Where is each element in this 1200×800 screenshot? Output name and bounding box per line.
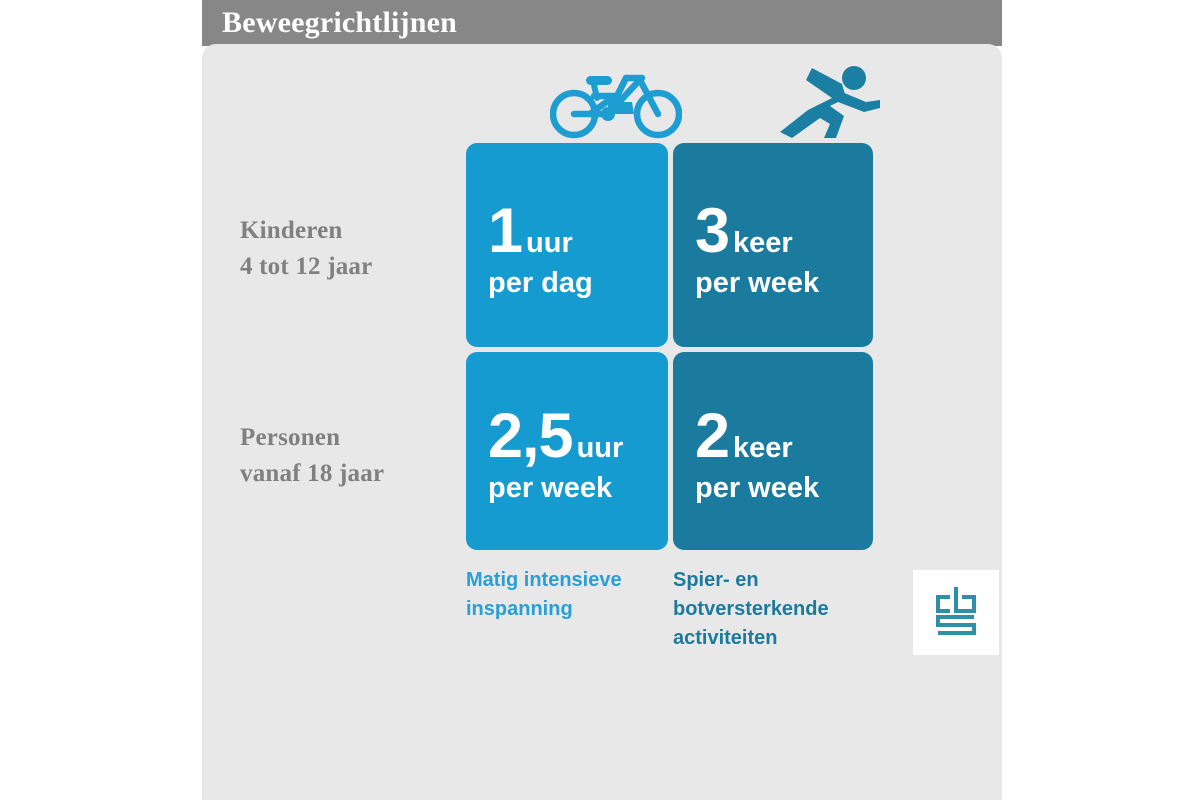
- value-unit: keer: [733, 228, 793, 258]
- value-line-primary: 1 uur: [488, 199, 668, 263]
- value-box-adults-strength: 2 keer per week: [673, 352, 873, 550]
- caption-strength-line1: Spier- en: [673, 566, 873, 595]
- caption-moderate-line1: Matig intensieve: [466, 566, 666, 595]
- value-box-children-moderate: 1 uur per dag: [466, 143, 668, 347]
- bicycle-icon: [550, 62, 682, 140]
- caption-strength-line2: botversterkende: [673, 595, 873, 624]
- cbs-logo: [913, 570, 999, 655]
- caption-strength-activity: Spier- en botversterkende activiteiten: [673, 566, 873, 653]
- row-label-children: Kinderen 4 tot 12 jaar: [240, 213, 450, 285]
- value-number: 2: [695, 404, 729, 468]
- caption-moderate-activity: Matig intensieve inspanning: [466, 566, 666, 624]
- page-title: Beweegrichtlijnen: [222, 2, 457, 44]
- value-box-content: 2 keer per week: [695, 404, 873, 506]
- value-box-content: 1 uur per dag: [488, 199, 668, 301]
- value-line-primary: 2 keer: [695, 404, 873, 468]
- value-period: per week: [695, 265, 873, 301]
- caption-moderate-line2: inspanning: [466, 595, 666, 624]
- caption-strength-line3: activiteiten: [673, 624, 873, 653]
- value-number: 1: [488, 199, 522, 263]
- value-period: per week: [695, 470, 873, 506]
- value-period: per week: [488, 470, 668, 506]
- value-period: per dag: [488, 265, 668, 301]
- value-number: 2,5: [488, 404, 573, 468]
- value-unit: uur: [577, 433, 624, 463]
- row-label-children-line1: Kinderen: [240, 213, 450, 249]
- row-label-children-line2: 4 tot 12 jaar: [240, 249, 450, 285]
- cbs-logo-icon: [930, 585, 982, 641]
- value-box-children-strength: 3 keer per week: [673, 143, 873, 347]
- value-box-adults-moderate: 2,5 uur per week: [466, 352, 668, 550]
- runner-icon: [772, 58, 882, 140]
- value-box-content: 2,5 uur per week: [488, 404, 668, 506]
- value-line-primary: 2,5 uur: [488, 404, 668, 468]
- row-label-adults-line1: Personen: [240, 420, 450, 456]
- row-label-adults: Personen vanaf 18 jaar: [240, 420, 450, 492]
- value-unit: keer: [733, 433, 793, 463]
- value-number: 3: [695, 199, 729, 263]
- value-box-content: 3 keer per week: [695, 199, 873, 301]
- value-line-primary: 3 keer: [695, 199, 873, 263]
- row-label-adults-line2: vanaf 18 jaar: [240, 456, 450, 492]
- header-bar: Beweegrichtlijnen: [202, 0, 1002, 46]
- value-unit: uur: [526, 228, 573, 258]
